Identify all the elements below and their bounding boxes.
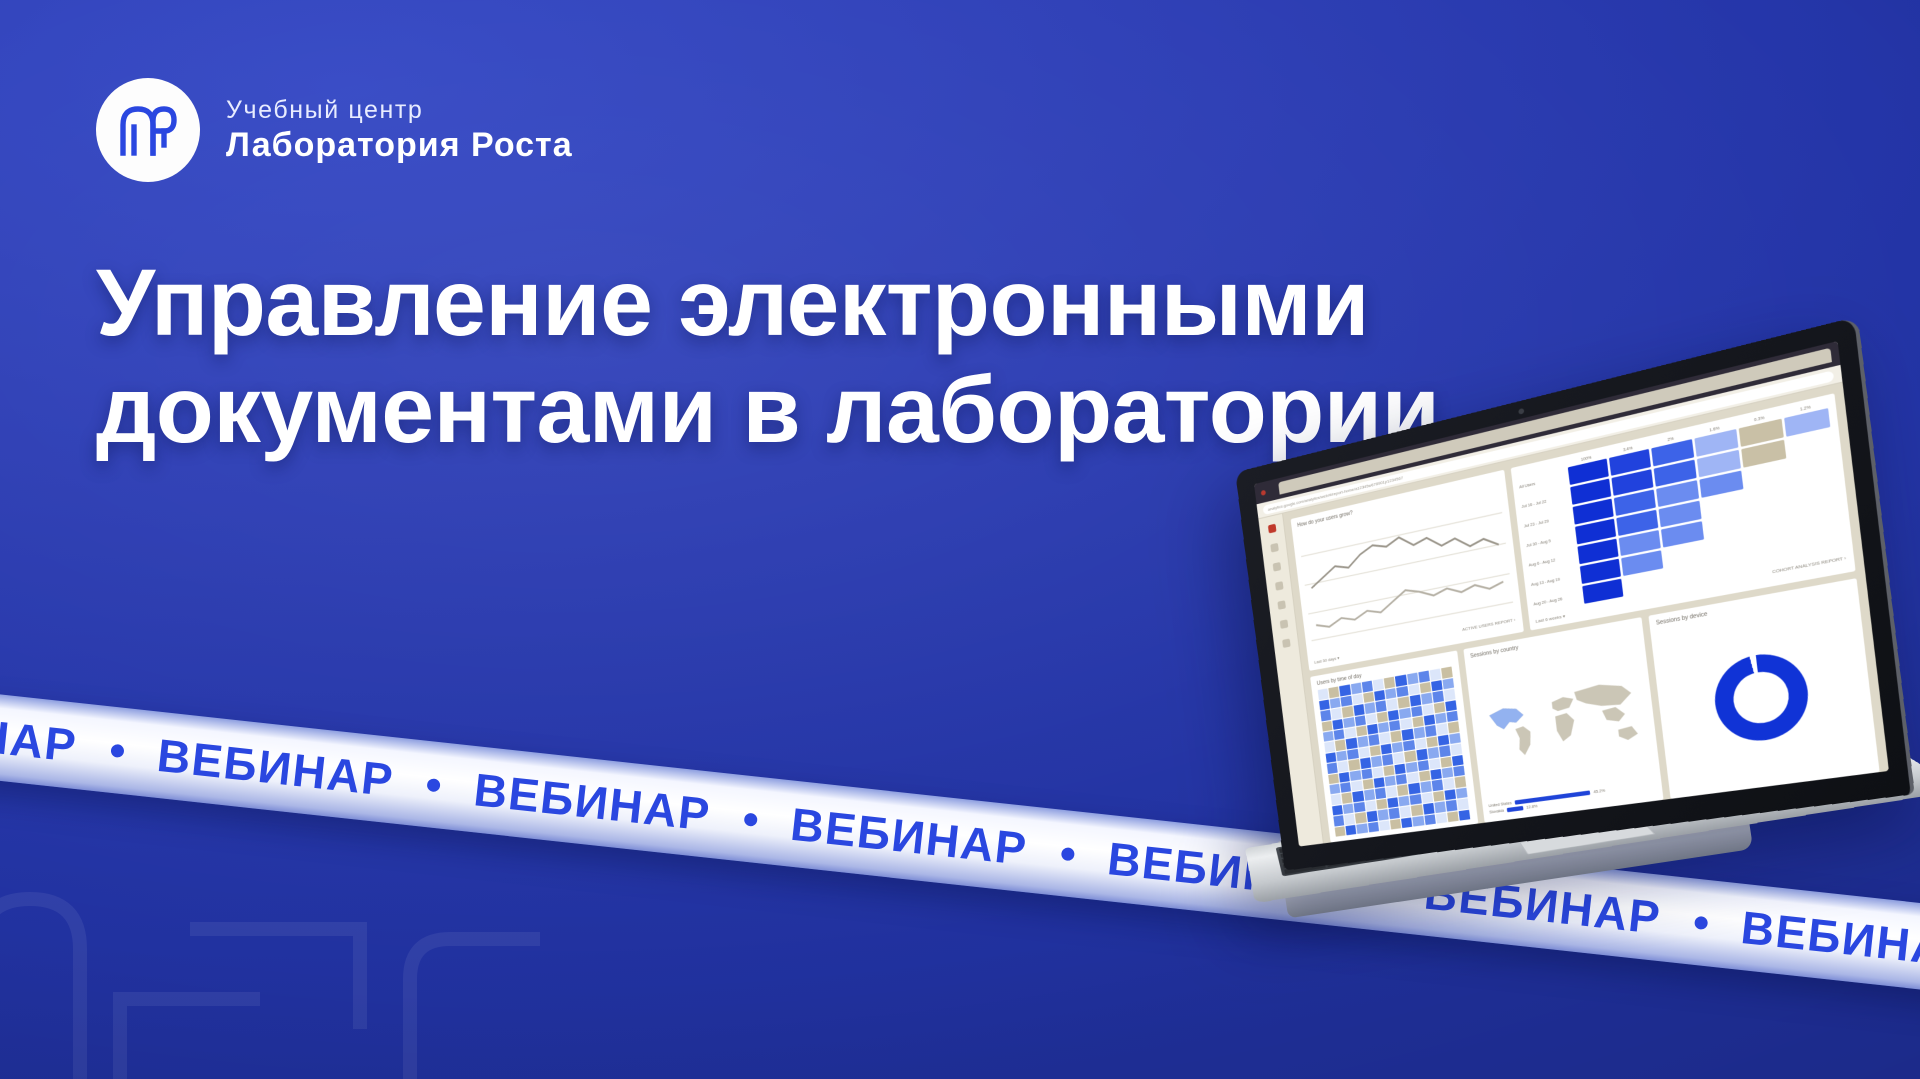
hour-cell [1440,756,1452,767]
card-top-devices[interactable]: Sessions by device [1648,579,1880,799]
hour-cell [1336,750,1347,761]
hour-cell [1323,731,1334,742]
hour-cell [1428,747,1440,758]
hour-cell [1379,820,1390,831]
hour-cell [1405,751,1417,762]
hour-cell [1403,740,1415,751]
dashboard-main: How do your users grow? [1283,383,1889,844]
hour-cell [1447,811,1459,822]
brand-logo-lockup: Учебный центр Лаборатория Роста [96,78,573,182]
hour-cell [1366,811,1377,822]
hour-cell [1434,702,1446,714]
hour-cell [1436,812,1448,823]
world-map [1471,634,1653,801]
hour-cell [1449,733,1461,745]
hour-cell [1357,736,1368,747]
sidebar-item-admin[interactable] [1282,639,1291,649]
hour-cell [1367,724,1378,735]
hour-cell [1416,749,1428,760]
legend-value: 45.2% [1593,788,1605,794]
hour-cell [1356,726,1367,737]
hour-cell [1379,733,1390,744]
hour-cell [1391,731,1403,742]
hour-cell [1333,815,1344,826]
hour-cell [1373,679,1384,690]
hour-cell [1335,826,1346,837]
hour-cell [1401,817,1413,828]
legend-label: Slovakia [1489,808,1504,814]
hour-cell [1399,707,1411,718]
hour-cell [1432,780,1444,791]
hour-cell [1327,763,1338,774]
hour-cell [1346,824,1357,835]
hour-cell [1453,765,1465,776]
hour-cell [1358,747,1369,758]
hour-cell [1375,788,1386,799]
hour-cell [1421,792,1433,803]
hour-cell [1430,669,1442,681]
hour-cell [1408,684,1420,696]
hour-cell [1390,818,1401,829]
hour-cell [1399,795,1411,806]
browser-close-icon[interactable] [1261,489,1266,495]
hour-cell [1393,752,1405,763]
hour-cell [1343,717,1354,728]
hour-cell [1360,758,1371,769]
hour-cell [1424,714,1436,726]
hour-cell [1319,699,1330,710]
hour-cell [1419,771,1431,782]
hour-cell [1363,692,1374,703]
hour-cell [1376,799,1387,810]
hour-cell [1353,704,1364,715]
hour-cell [1433,791,1445,802]
hour-cell [1339,771,1350,782]
hour-cell [1342,706,1353,717]
hour-cell [1335,740,1346,751]
legend-value: 12.8% [1526,804,1538,810]
hour-cell [1341,696,1352,707]
hour-cell [1395,675,1407,687]
hour-cell [1397,686,1409,698]
hour-cell [1406,761,1418,772]
hour-cell [1362,779,1373,790]
hour-cell [1343,803,1354,814]
hour-cell [1372,767,1383,778]
hour-cell [1320,710,1331,721]
hour-cell [1420,682,1432,694]
webinar-cover-slide: Учебный центр Лаборатория Роста Управлен… [0,0,1920,1079]
hours-heatmap [1318,667,1471,837]
hour-cell [1385,688,1397,699]
hour-cell [1407,673,1419,685]
hour-cell [1385,776,1396,787]
hour-cell [1424,814,1436,825]
hour-cell [1396,774,1408,785]
hour-cell [1443,678,1455,690]
page-title: Управление электронными документами в ла… [96,250,1276,465]
hour-cell [1442,767,1454,778]
devices-donut-chart [1657,597,1871,793]
hour-cell [1402,729,1414,740]
card-users-by-hour[interactable]: Users by time of day [1310,651,1478,843]
ribbon-word: ВЕБИНАР [155,728,397,807]
hour-cell [1340,782,1351,793]
hour-cell [1432,691,1444,703]
hour-cell [1418,671,1430,683]
hour-cell [1334,729,1345,740]
hour-cell [1387,797,1398,808]
hour-cell [1329,784,1340,795]
sidebar-item-audience[interactable] [1272,562,1281,572]
hour-cell [1412,716,1424,727]
hour-cell [1330,697,1341,708]
hour-cell [1409,695,1421,707]
hour-cell [1352,694,1363,705]
hour-cell [1435,713,1447,725]
hour-cell [1448,722,1460,734]
hour-cell [1344,814,1355,825]
hour-cell [1443,778,1455,789]
donut-ring [1711,647,1814,746]
ribbon-word: ВЕБИНАР [0,693,80,772]
hour-cell [1389,808,1400,819]
hour-cell [1332,805,1343,816]
hour-cell [1438,734,1450,746]
legend-bar [1507,806,1524,812]
ribbon-separator-dot [110,743,124,757]
hour-cell [1407,772,1419,783]
hour-cell [1354,802,1365,813]
hour-cell [1444,789,1456,800]
webcam-icon [1518,408,1524,415]
hour-cell [1362,681,1373,692]
hour-cell [1451,744,1463,756]
hour-cell [1371,756,1382,767]
ribbon-word: ВЕБИНАР [788,797,1030,876]
hour-cell [1434,802,1446,813]
hour-cell [1351,780,1362,791]
ribbon-separator-dot [1060,846,1074,860]
brand-logo-text: Учебный центр Лаборатория Роста [226,97,573,163]
hour-cell [1382,754,1393,765]
hour-cell [1431,680,1443,692]
hour-cell [1411,805,1423,816]
hour-cell [1355,812,1366,823]
hour-cell [1422,704,1434,716]
sidebar-item-realtime[interactable] [1270,543,1279,553]
hour-cell [1377,711,1388,722]
hour-cell [1455,776,1467,787]
hour-cell [1345,727,1356,738]
hour-cell [1436,723,1448,735]
hour-cell [1446,800,1458,811]
hour-cell [1459,809,1471,820]
hour-cell [1410,794,1422,805]
brand-line-2: Лаборатория Роста [226,127,573,163]
hour-cell [1342,793,1353,804]
hour-cell [1364,790,1375,801]
hour-cell [1364,702,1375,713]
hour-cell [1383,765,1394,776]
sidebar-item-behavior[interactable] [1277,600,1286,610]
hour-cell [1421,693,1433,705]
hour-cell [1374,690,1385,701]
hour-cell [1420,781,1432,792]
hour-cell [1346,738,1357,749]
sidebar-item-home[interactable] [1267,524,1276,534]
brand-line-1: Учебный центр [226,97,573,124]
ribbon-word: ВЕБИНАР [471,762,713,841]
hour-cell [1354,715,1365,726]
hour-cell [1340,685,1351,696]
hour-cell [1426,736,1438,747]
sidebar-item-acquisition[interactable] [1275,581,1284,591]
hour-cell [1318,689,1329,700]
hour-cell [1430,769,1442,780]
hour-cell [1395,763,1407,774]
hour-cell [1351,683,1362,694]
hour-cell [1328,773,1339,784]
hour-cell [1338,761,1349,772]
hour-cell [1417,760,1429,771]
headline-line-2: документами в лаборатории [96,357,1276,464]
hour-cell [1370,745,1381,756]
hour-cell [1392,742,1404,753]
card-users-by-country[interactable]: Sessions by country [1463,618,1663,823]
hour-cell [1326,752,1337,763]
hour-cell [1350,770,1361,781]
hour-cell [1401,718,1413,729]
hour-cell [1415,738,1427,749]
hour-cell [1366,713,1377,724]
hour-cell [1333,719,1344,730]
logo-badge [96,78,200,182]
hour-cell [1324,741,1335,752]
hour-cell [1381,743,1392,754]
hour-cell [1398,697,1410,708]
hour-cell [1458,798,1470,809]
hour-cell [1413,815,1425,826]
hour-cell [1349,759,1360,770]
hour-cell [1368,821,1379,832]
ribbon-separator-dot [744,812,758,826]
hour-cell [1322,720,1333,731]
hour-cell [1423,803,1435,814]
hour-cell [1361,768,1372,779]
hour-cell [1439,745,1451,756]
hour-cell [1373,777,1384,788]
analytics-dashboard: How do your users grow? [1258,383,1888,847]
hour-cell [1445,700,1457,712]
hour-cell [1447,711,1459,723]
hour-cell [1452,754,1464,765]
hour-cell [1331,794,1342,805]
hour-cell [1397,785,1409,796]
hour-cell [1413,727,1425,738]
hour-cell [1353,791,1364,802]
hour-cell [1444,689,1456,701]
hour-cell [1329,687,1340,698]
hour-cell [1377,809,1388,820]
hour-cell [1347,749,1358,760]
hour-cell [1388,709,1400,720]
laptop-mockup: analytics.google.com/analytics/web/#/rep… [1190,377,1920,995]
hour-cell [1441,667,1453,679]
hour-cell [1384,677,1396,689]
hour-cell [1425,725,1437,736]
hour-cell [1331,708,1342,719]
hour-cell [1387,699,1399,710]
hour-cell [1411,705,1423,717]
hour-cell [1400,806,1412,817]
hour-cell [1456,787,1468,798]
hour-cell [1389,720,1401,731]
headline-line-1: Управление электронными [96,250,1276,357]
hour-cell [1375,700,1386,711]
hour-cell [1409,783,1421,794]
sidebar-item-conversions[interactable] [1279,619,1288,629]
hour-cell [1357,823,1368,834]
monogram-lr-icon [117,101,179,159]
hour-cell [1368,734,1379,745]
hour-cell [1429,758,1441,769]
hour-cell [1386,786,1397,797]
hour-cell [1365,800,1376,811]
ribbon-separator-dot [427,778,441,792]
hour-cell [1378,722,1389,733]
